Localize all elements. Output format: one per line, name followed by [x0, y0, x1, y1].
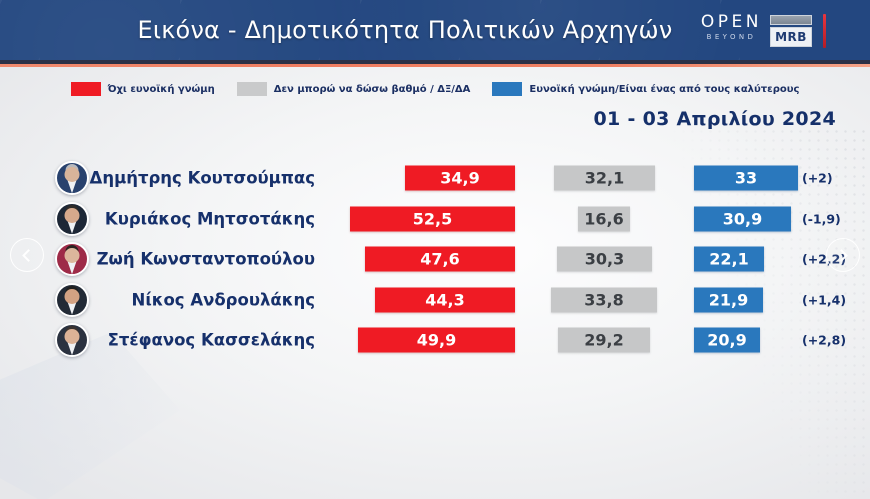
- chart-row: Δημήτρης Κουτσούμπας34,932,133(+2): [0, 158, 870, 199]
- bar-no-opinion: 32,1: [554, 166, 655, 191]
- candidate-name: Ζωή Κωνσταντοπούλου: [97, 250, 315, 269]
- delta-value: (-1,9): [802, 211, 841, 226]
- avatar: [55, 202, 89, 236]
- bar-favourable: 33: [694, 166, 798, 191]
- date-range-label: 01 - 03 Απριλίου 2024: [594, 108, 836, 130]
- candidate-name: Κυριάκος Μητσοτάκης: [105, 209, 315, 228]
- bar-unfavourable: 44,3: [375, 287, 515, 312]
- bar-favourable: 22,1: [694, 247, 764, 272]
- legend-label: Ευνοϊκή γνώμη/Είναι ένας από τους καλύτε…: [529, 84, 799, 95]
- legend-item-grey: Δεν μπορώ να δώσω βαθμό / ΔΞ/ΔΑ: [237, 82, 471, 96]
- chart-legend: Όχι ευνοϊκή γνώμηΔεν μπορώ να δώσω βαθμό…: [0, 78, 870, 100]
- chevron-left-icon: [22, 249, 35, 262]
- mrb-logo-bar: [770, 15, 812, 25]
- next-slide-button[interactable]: [826, 238, 860, 272]
- delta-value: (+1,4): [802, 292, 846, 307]
- avatar: [55, 242, 89, 276]
- candidate-name: Δημήτρης Κουτσούμπας: [90, 169, 315, 188]
- mrb-logo-text: MRB: [770, 27, 812, 47]
- chart-row: Στέφανος Κασσελάκης49,929,220,9(+2,8): [0, 320, 870, 361]
- chart-row: Νίκος Ανδρουλάκης44,333,821,9(+1,4): [0, 280, 870, 321]
- candidate-name: Στέφανος Κασσελάκης: [108, 331, 315, 350]
- legend-item-red: Όχι ευνοϊκή γνώμη: [71, 82, 215, 96]
- beyond-logo-text: BEYOND: [707, 34, 757, 41]
- bar-no-opinion: 30,3: [557, 247, 652, 272]
- avatar-face: [65, 289, 80, 304]
- legend-swatch-grey-icon: [237, 82, 267, 96]
- bar-no-opinion: 33,8: [551, 287, 657, 312]
- header-red-accent: [823, 14, 826, 48]
- chart-row: Κυριάκος Μητσοτάκης52,516,630,9(-1,9): [0, 199, 870, 240]
- candidate-name: Νίκος Ανδρουλάκης: [132, 290, 315, 309]
- legend-swatch-red-icon: [71, 82, 101, 96]
- chevron-right-icon: [835, 249, 848, 262]
- delta-value: (+2,8): [802, 333, 846, 348]
- bar-unfavourable: 47,6: [365, 247, 515, 272]
- avatar-face: [65, 329, 80, 344]
- avatar-face: [65, 208, 80, 223]
- avatar: [55, 323, 89, 357]
- avatar: [55, 283, 89, 317]
- avatar-face: [65, 167, 80, 182]
- chart-rows: Δημήτρης Κουτσούμπας34,932,133(+2)Κυριάκ…: [0, 158, 870, 361]
- delta-value: (+2): [802, 171, 833, 186]
- bar-favourable: 20,9: [694, 328, 760, 353]
- legend-label: Δεν μπορώ να δώσω βαθμό / ΔΞ/ΔΑ: [274, 84, 471, 95]
- legend-item-blue: Ευνοϊκή γνώμη/Είναι ένας από τους καλύτε…: [492, 82, 799, 96]
- bar-no-opinion: 29,2: [558, 328, 650, 353]
- bar-unfavourable: 49,9: [358, 328, 515, 353]
- bar-unfavourable: 34,9: [405, 166, 515, 191]
- legend-label: Όχι ευνοϊκή γνώμη: [108, 84, 215, 95]
- avatar: [55, 161, 89, 195]
- bar-favourable: 21,9: [694, 287, 763, 312]
- slide-stage: Εικόνα - Δημοτικότητα Πολιτικών Αρχηγών …: [0, 0, 870, 499]
- open-beyond-logo: OPEN BEYOND: [701, 14, 762, 41]
- bar-unfavourable: 52,5: [350, 206, 515, 231]
- mrb-logo: MRB: [770, 15, 812, 47]
- chart-row: Ζωή Κωνσταντοπούλου47,630,322,1(+2,2): [0, 239, 870, 280]
- open-logo-text: OPEN: [701, 14, 762, 31]
- bar-no-opinion: 16,6: [578, 206, 630, 231]
- bar-favourable: 30,9: [694, 206, 791, 231]
- legend-swatch-blue-icon: [492, 82, 522, 96]
- previous-slide-button[interactable]: [10, 238, 44, 272]
- avatar-face: [65, 248, 80, 263]
